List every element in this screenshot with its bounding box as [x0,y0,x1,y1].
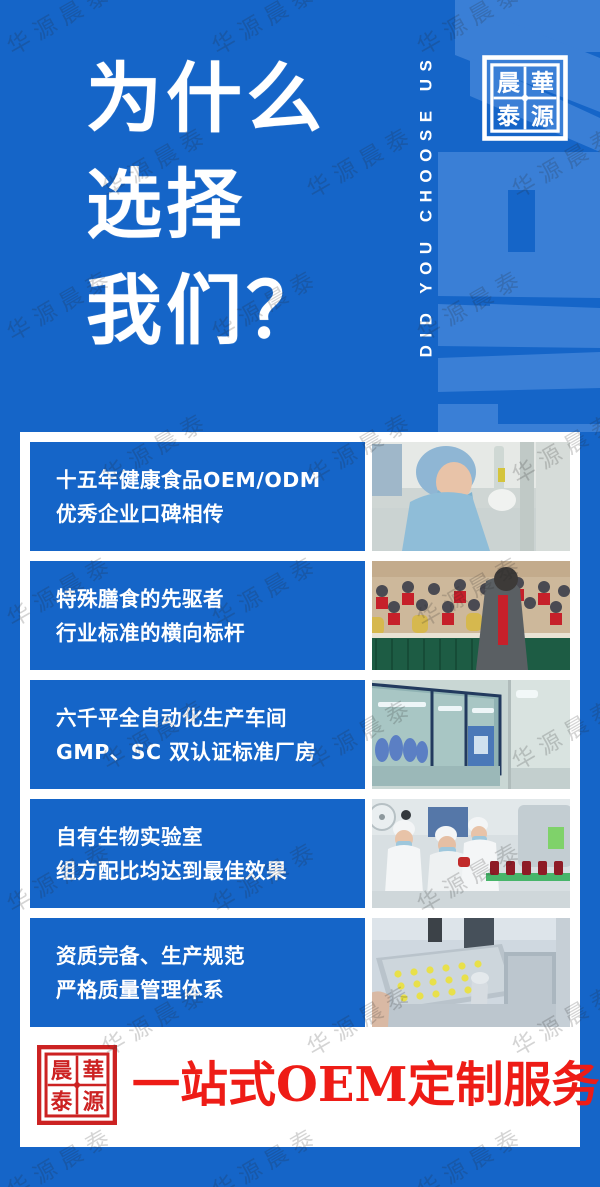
feature-line-1: 自有生物实验室 [56,820,365,854]
feature-text: 十五年健康食品OEM/ODM 优秀企业口碑相传 [30,442,365,551]
feature-line-2: 行业标准的横向标杆 [56,616,365,650]
features-list: 十五年健康食品OEM/ODM 优秀企业口碑相传 [30,442,570,1027]
brand-seal-red-icon: 晨 華 泰 源 [34,1042,120,1128]
feature-text: 六千平全自动化生产车间 GMP、SC 双认证标准厂房 [30,680,365,789]
feature-text: 资质完备、生产规范 严格质量管理体系 [30,918,365,1027]
banner-slogan: 一站式OEM定制服务 [132,1055,600,1115]
vertical-subtitle: DID YOU CHOOSE US [404,0,448,410]
svg-text:華: 華 [531,70,554,97]
svg-text:華: 華 [83,1059,105,1084]
brand-seal-white-icon: 晨 華 泰 源 [479,52,571,144]
page-title: 为什么 选择 我们？ [86,46,326,364]
title-line-1: 为什么 [86,46,326,152]
feature-image-conference [372,561,570,670]
feature-line-1: 特殊膳食的先驱者 [56,582,365,616]
watermark-text: 华源晨泰 [0,973,10,1062]
vertical-subtitle-text: DID YOU CHOOSE US [416,53,436,358]
feature-line-2: 组方配比均达到最佳效果 [56,854,365,888]
hero-section: 为什么 选择 我们？ DID YOU CHOOSE US 晨 華 泰 源 [0,0,600,432]
feature-image-biolab [372,799,570,908]
watermark-text: 华源晨泰 [0,687,10,776]
feature-row: 六千平全自动化生产车间 GMP、SC 双认证标准厂房 [30,680,570,789]
feature-line-1: 资质完备、生产规范 [56,939,365,973]
feature-row: 特殊膳食的先驱者 行业标准的横向标杆 [30,561,570,670]
feature-row: 自有生物实验室 组方配比均达到最佳效果 [30,799,570,908]
feature-text: 特殊膳食的先驱者 行业标准的横向标杆 [30,561,365,670]
feature-image-blister-packing [372,918,570,1027]
feature-line-2: GMP、SC 双认证标准厂房 [56,735,365,769]
title-line-3: 我们？ [86,258,326,364]
svg-text:泰: 泰 [496,103,521,130]
bottom-banner: 晨 華 泰 源 一站式OEM定制服务 [30,1037,570,1132]
feature-line-2: 严格质量管理体系 [56,973,365,1007]
feature-row: 十五年健康食品OEM/ODM 优秀企业口碑相传 [30,442,570,551]
feature-image-cleanroom [372,680,570,789]
feature-line-1: 十五年健康食品OEM/ODM [56,463,365,497]
feature-row: 资质完备、生产规范 严格质量管理体系 [30,918,570,1027]
feature-text: 自有生物实验室 组方配比均达到最佳效果 [30,799,365,908]
svg-text:源: 源 [83,1090,105,1115]
poster-root: 为什么 选择 我们？ DID YOU CHOOSE US 晨 華 泰 源 [0,0,600,1187]
feature-line-2: 优秀企业口碑相传 [56,497,365,531]
svg-text:晨: 晨 [497,70,521,97]
title-line-2: 选择 [86,152,326,258]
svg-text:晨: 晨 [51,1059,73,1084]
features-frame: 十五年健康食品OEM/ODM 优秀企业口碑相传 [20,432,580,1147]
svg-text:泰: 泰 [51,1090,73,1115]
svg-text:源: 源 [531,103,554,130]
feature-image-lab-technician [372,442,570,551]
feature-line-1: 六千平全自动化生产车间 [56,701,365,735]
